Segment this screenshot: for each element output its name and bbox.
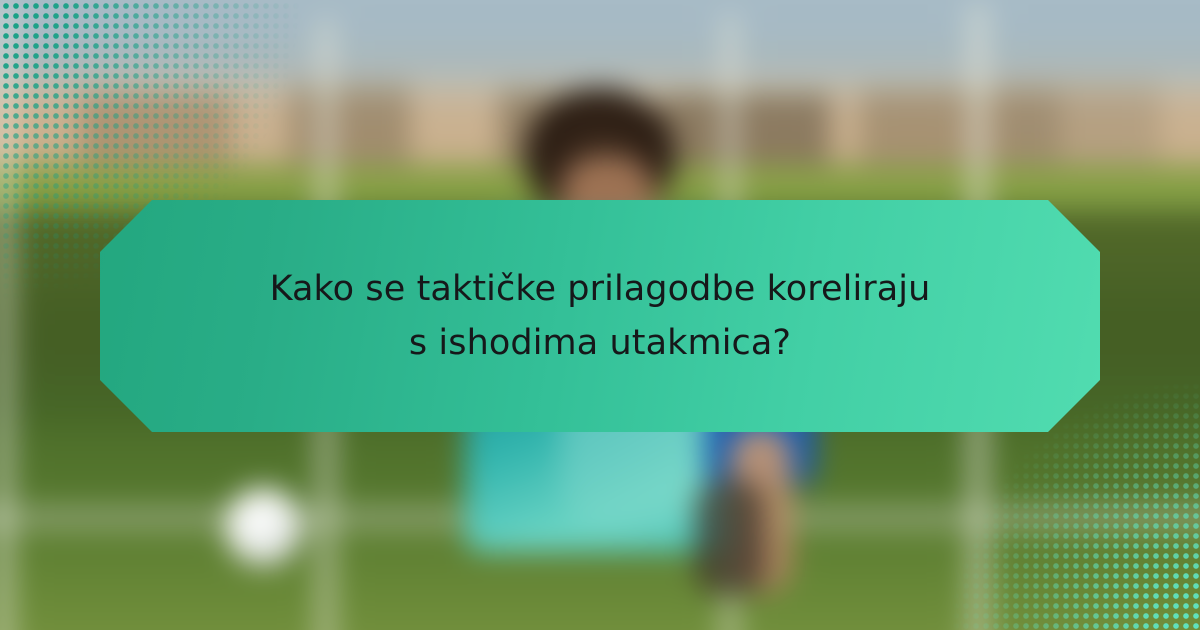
card-title-text: Kako se taktičke prilagodbe koreliraju s… — [255, 262, 945, 371]
soccer-ball — [225, 488, 303, 566]
player-leg — [695, 480, 765, 595]
screenshot-canvas: Kako se taktičke prilagodbe koreliraju s… — [0, 0, 1200, 630]
goal-post — [0, 0, 16, 630]
building-shape — [80, 90, 230, 175]
title-card: Kako se taktičke prilagodbe koreliraju s… — [100, 200, 1100, 432]
